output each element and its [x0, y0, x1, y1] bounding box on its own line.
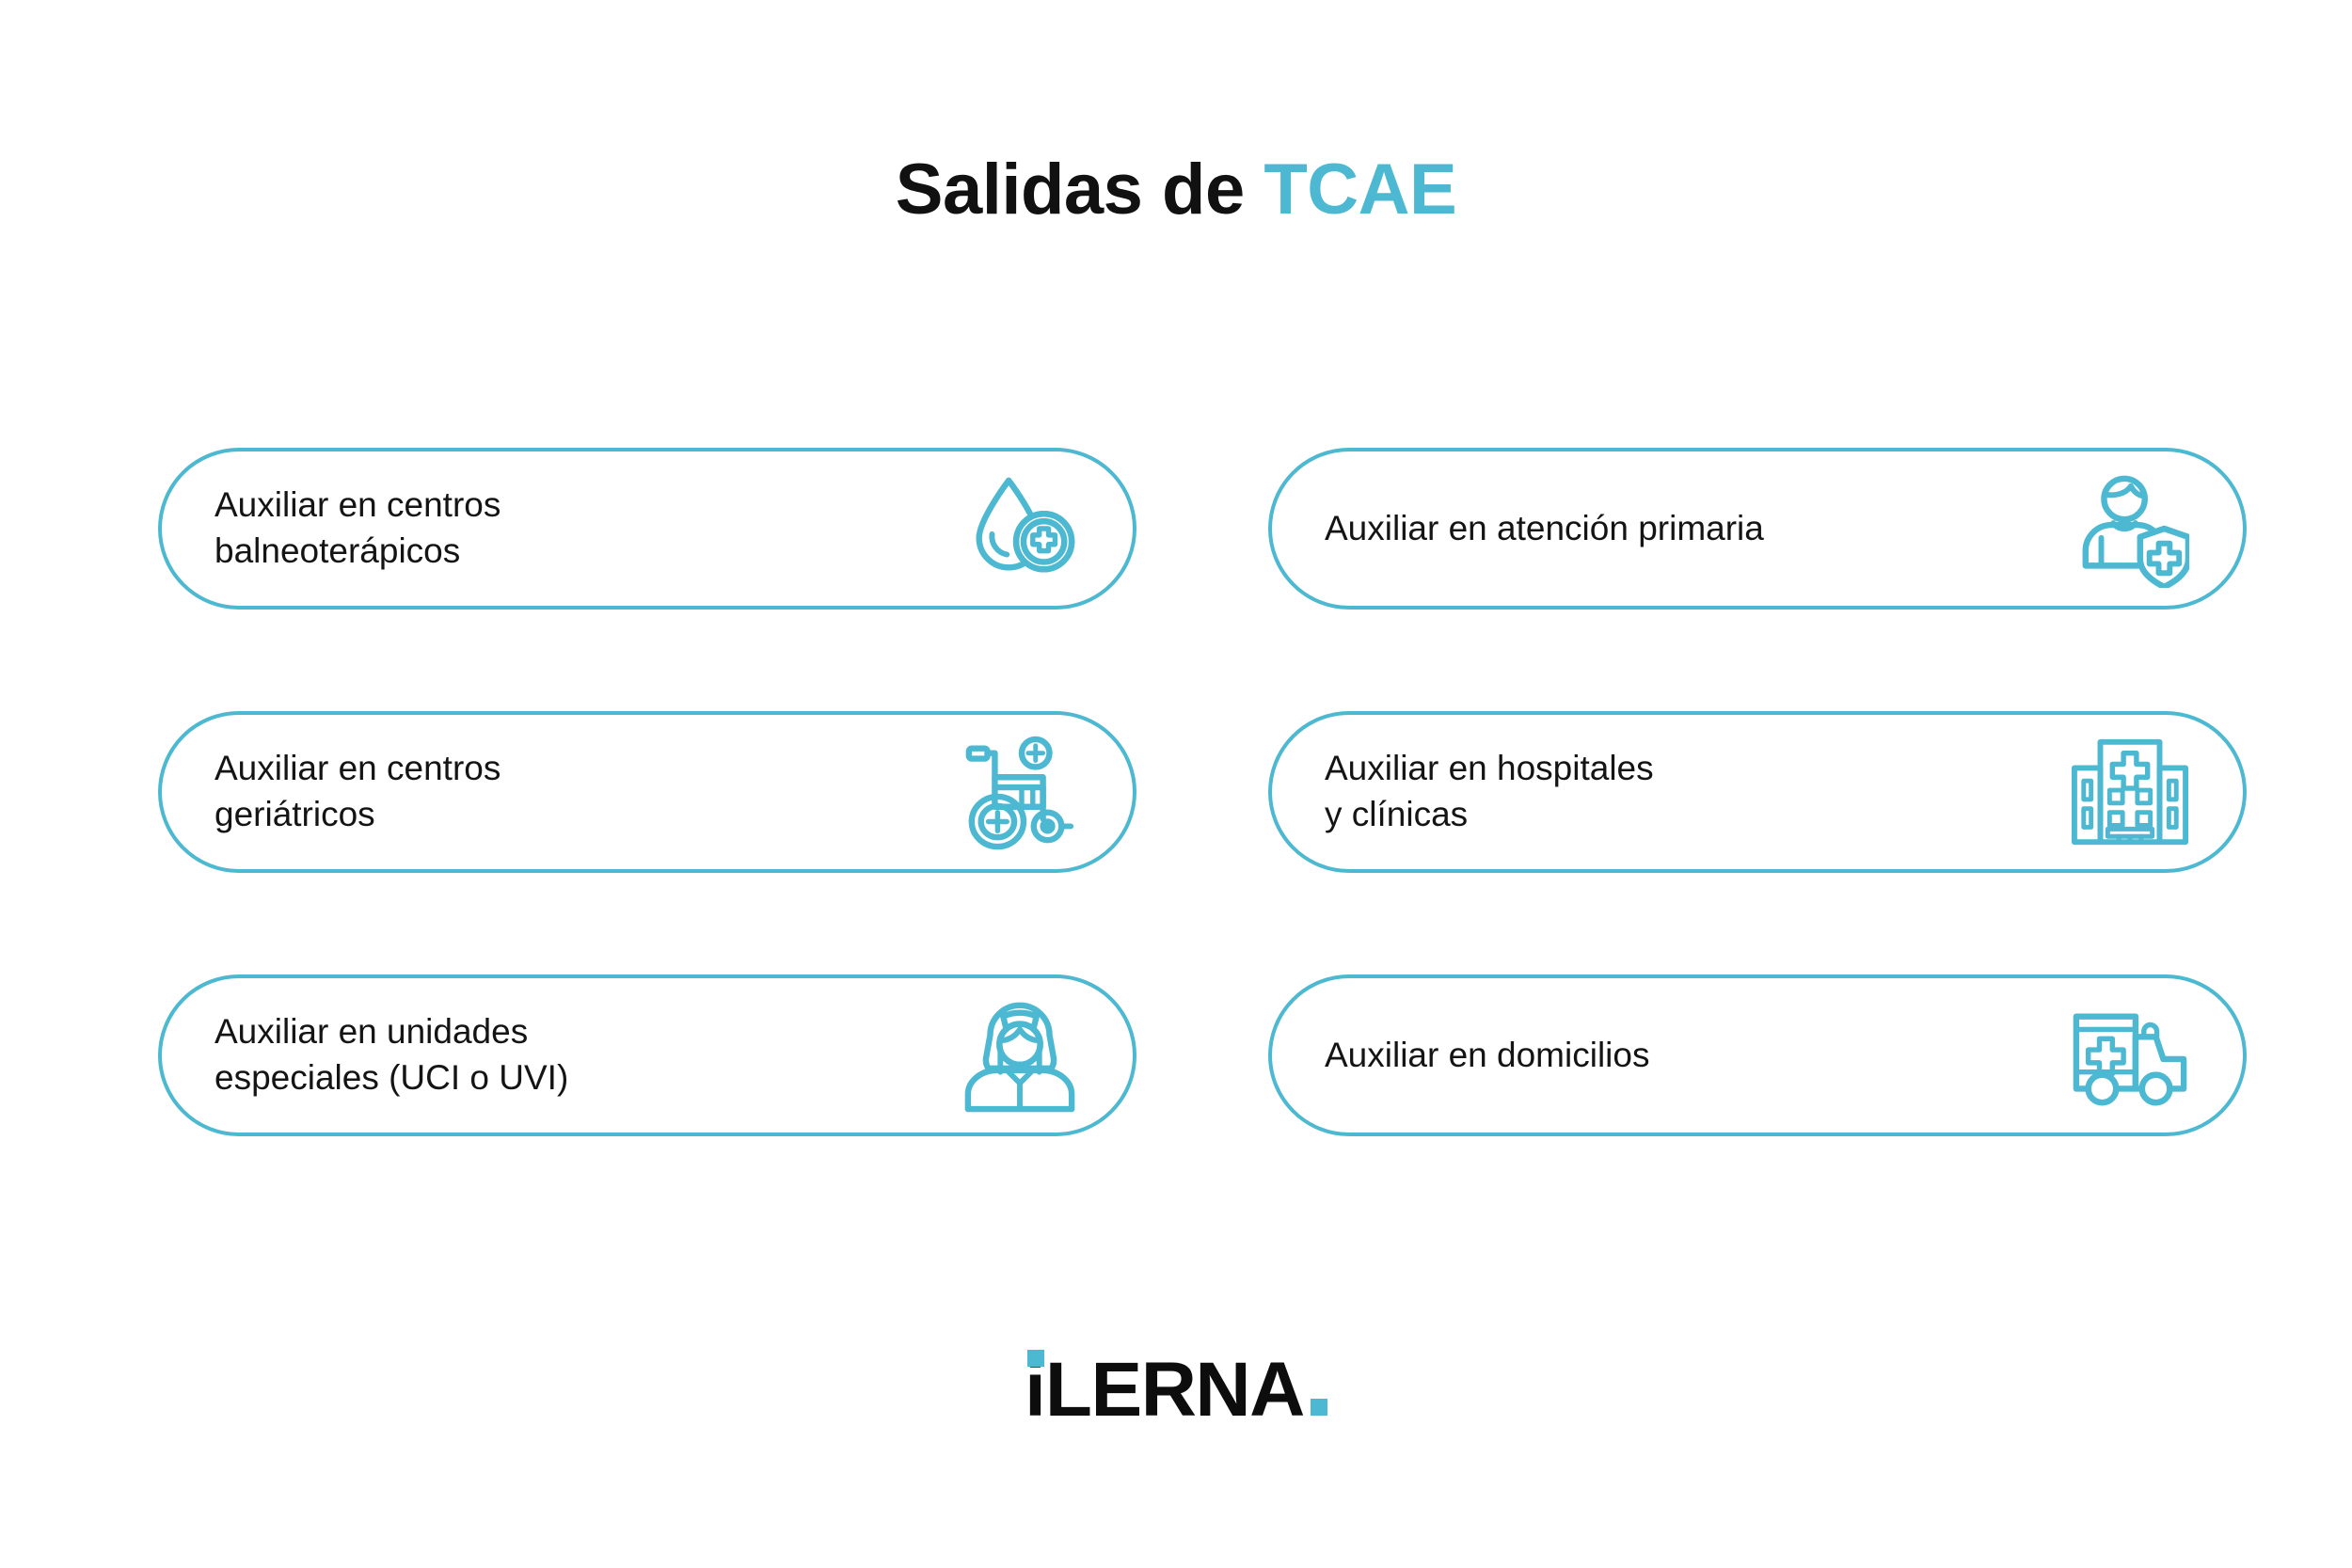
card-label: Auxiliar en atención primaria [1325, 506, 1764, 552]
logo-main-text: LERNA [1045, 1347, 1304, 1433]
card-label: Auxiliar en hospitales y clínicas [1325, 746, 1654, 838]
card-label: Auxiliar en centros balneoterápicos [215, 483, 501, 575]
ambulance-icon [2068, 993, 2192, 1117]
card-hospitales-clinicas[interactable]: Auxiliar en hospitales y clínicas [1268, 711, 2247, 873]
logo-period-square [1311, 1399, 1327, 1416]
card-unidades-especiales[interactable]: Auxiliar en unidades especiales (UCI o U… [158, 974, 1136, 1136]
logo-i-dot-square [1027, 1350, 1044, 1367]
page-title-accent: TCAE [1263, 150, 1456, 230]
hospital-building-icon [2068, 730, 2192, 854]
card-domicilios[interactable]: Auxiliar en domicilios [1268, 974, 2247, 1136]
card-label: Auxiliar en centros geriátricos [215, 746, 501, 838]
doctor-shield-cross-icon [2068, 467, 2192, 591]
card-label: Auxiliar en unidades especiales (UCI o U… [215, 1009, 568, 1101]
page-title: Salidas de TCAE [0, 154, 2352, 226]
card-centros-balneoterapicos[interactable]: Auxiliar en centros balneoterápicos [158, 448, 1136, 610]
title-block: Salidas de TCAE [0, 154, 2352, 226]
cards-grid: Auxiliar en centros balneoterápicos Auxi… [158, 448, 2247, 1136]
card-label: Auxiliar en domicilios [1325, 1033, 1649, 1079]
ilerna-logo: iLERNA [1025, 1352, 1327, 1429]
logo-block: iLERNA [0, 1352, 2352, 1429]
wheelchair-icon [958, 730, 1082, 854]
card-atencion-primaria[interactable]: Auxiliar en atención primaria [1268, 448, 2247, 610]
water-drop-medical-cross-icon [958, 467, 1082, 591]
nurse-icon [958, 993, 1082, 1117]
card-centros-geriatricos[interactable]: Auxiliar en centros geriátricos [158, 711, 1136, 873]
page-title-plain: Salidas de [896, 150, 1264, 230]
